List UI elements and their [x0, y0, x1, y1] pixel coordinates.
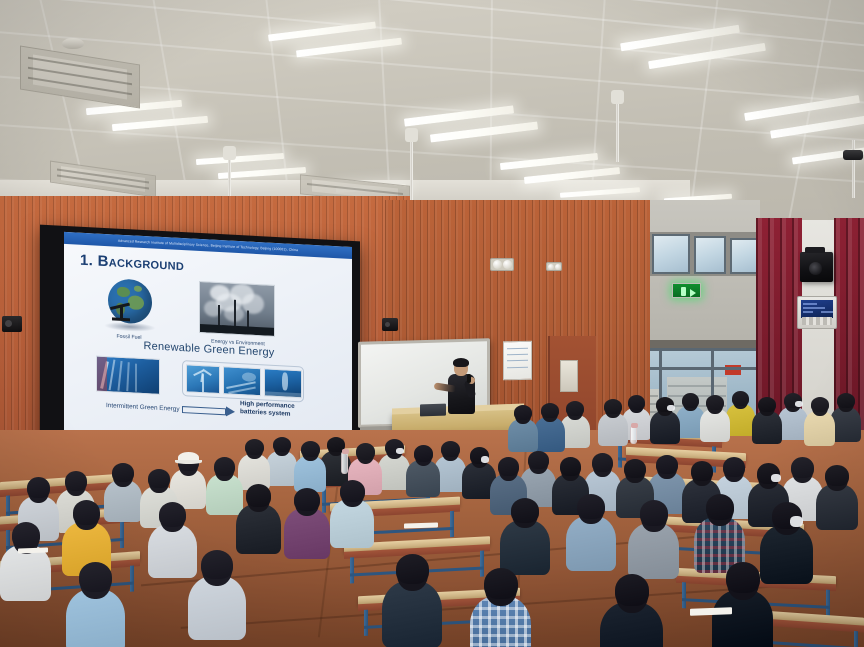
presenter-hair	[453, 358, 469, 367]
audience-hair	[159, 502, 186, 527]
ceiling-rod-mount	[611, 90, 624, 104]
desk-leg	[854, 631, 858, 647]
presenter	[440, 360, 482, 422]
face-mask	[790, 516, 803, 527]
door-sign	[560, 360, 578, 392]
desk-leg	[450, 511, 454, 537]
audience-hair	[811, 397, 829, 412]
audience-member	[284, 486, 330, 564]
audience-torso	[566, 516, 616, 571]
audience-hair	[414, 445, 433, 462]
wall-poster	[503, 341, 532, 381]
slide-title-text: Background	[98, 253, 185, 275]
window-pane	[652, 234, 690, 274]
audience-member	[534, 402, 565, 455]
wall-speaker-small	[2, 316, 22, 332]
audience-hair	[73, 500, 100, 525]
audience-member	[508, 404, 538, 455]
emergency-light	[546, 262, 562, 271]
face-mask	[771, 474, 781, 482]
audience-member	[726, 390, 755, 439]
audience-member	[566, 492, 616, 576]
audience-hair	[791, 457, 814, 478]
audience-hair	[837, 393, 855, 408]
smoke-detector-icon	[62, 38, 84, 49]
audience-hair	[656, 455, 678, 474]
audience-hair	[514, 405, 532, 420]
flow-arrow-head-icon	[226, 406, 235, 416]
audience-member	[600, 572, 663, 647]
audience-hair	[682, 393, 699, 408]
desk	[760, 610, 864, 647]
audience-hair	[27, 477, 50, 498]
audience-member	[66, 560, 125, 647]
face-mask	[667, 405, 675, 411]
factory-smokestacks-image	[199, 281, 275, 337]
exit-sign	[672, 283, 701, 298]
audience-hair	[441, 441, 460, 457]
audience-hair	[732, 391, 749, 406]
audience-hair	[560, 457, 581, 476]
audience-member	[470, 566, 531, 647]
water-bottle	[630, 426, 637, 444]
presentation-slide: Advanced Research Institute of Multidisc…	[64, 232, 352, 459]
face-mask	[795, 401, 803, 407]
lecture-hall-scene: Advanced Research Institute of Multidisc…	[0, 0, 864, 647]
ceiling-speaker-icon	[843, 150, 863, 160]
audience-hair	[79, 562, 112, 592]
cap-brim	[175, 460, 202, 464]
audience-hair	[294, 488, 320, 511]
audience-member	[188, 548, 246, 646]
geothermal-plant-image	[264, 368, 302, 398]
audience-torso	[804, 411, 835, 446]
audience-hair	[604, 399, 622, 414]
microphone-icon	[467, 374, 471, 383]
audience-hair	[758, 397, 776, 412]
audience-hair	[65, 471, 87, 491]
audience-hair	[396, 554, 429, 584]
audience-hair	[340, 480, 365, 502]
audience-hair	[541, 403, 559, 418]
ceiling-hanging-rod	[616, 96, 619, 162]
audience-member	[752, 396, 782, 447]
wall-control-panel[interactable]	[797, 296, 837, 329]
desk-leg	[682, 582, 686, 608]
flow-label-to-line2: batteries system	[240, 408, 290, 418]
audience-member	[712, 560, 773, 647]
audience-hair	[301, 441, 320, 457]
audience-member	[382, 552, 442, 647]
flow-arrow-body	[182, 406, 226, 415]
ceiling-hanging-rod	[852, 140, 855, 198]
audience-member	[330, 478, 374, 553]
globe-oil-pump-image	[102, 278, 156, 333]
audience-hair	[691, 461, 713, 481]
audience-hair	[12, 522, 40, 548]
slide-title-number: 1.	[80, 252, 93, 270]
audience-member	[598, 398, 628, 449]
window-pane	[730, 238, 758, 274]
emergency-light	[490, 258, 514, 271]
window-pane	[694, 236, 726, 274]
audience-member	[650, 396, 680, 447]
audience-torso	[534, 417, 565, 452]
audience-hair	[484, 568, 518, 599]
audience-hair	[615, 574, 649, 606]
wall-speaker-small	[382, 318, 398, 331]
hydroelectric-dam-image	[96, 356, 160, 395]
audience-member	[0, 520, 51, 606]
audience-hair	[566, 401, 584, 416]
audience-hair	[148, 469, 170, 488]
audience-hair	[112, 463, 134, 482]
wall-speaker-large	[800, 252, 833, 282]
audience-hair	[214, 457, 235, 476]
desk-leg	[130, 566, 134, 592]
audience-hair	[577, 494, 605, 519]
audience-member	[700, 394, 730, 445]
notebook	[18, 547, 48, 553]
desk-leg	[826, 590, 830, 616]
face-mask	[481, 456, 489, 463]
audience-hair	[201, 550, 233, 579]
audience-hair	[498, 457, 519, 476]
audience-hair	[592, 453, 613, 472]
desk-leg	[350, 557, 354, 583]
audience-hair	[246, 484, 271, 507]
audience-hair	[528, 451, 549, 469]
desk-leg	[364, 610, 368, 636]
audience-hair	[624, 459, 646, 478]
audience-member	[804, 396, 835, 449]
audience-hair	[640, 500, 668, 526]
audience-member	[816, 464, 858, 534]
audience-hair	[825, 465, 849, 486]
factory-skyline	[200, 324, 274, 336]
audience-member	[406, 444, 440, 501]
audience-hair	[723, 457, 745, 477]
audience-hair	[511, 498, 539, 523]
audience-hair	[628, 395, 645, 410]
face-mask	[396, 448, 404, 454]
audience-hair	[245, 439, 264, 455]
audience-hair	[706, 494, 734, 520]
slide-title: 1. Background	[80, 252, 184, 274]
wind-turbine-image	[186, 364, 220, 394]
water-bottle	[341, 452, 348, 474]
ceiling-rod-mount	[405, 128, 418, 142]
flow-label-to: High performance batteries system	[240, 400, 295, 419]
audience-hair	[706, 395, 724, 410]
ceiling-rod-mount	[223, 146, 236, 160]
audience-hair	[273, 437, 291, 452]
flow-label-from: Intermittent Green Energy	[106, 402, 180, 413]
notebook	[690, 607, 732, 615]
audience-torso	[266, 451, 297, 486]
audience-hair	[356, 443, 375, 460]
audience-hair	[726, 562, 760, 593]
solar-panels-image	[223, 366, 261, 396]
oil-pump-jack-icon	[110, 302, 132, 323]
